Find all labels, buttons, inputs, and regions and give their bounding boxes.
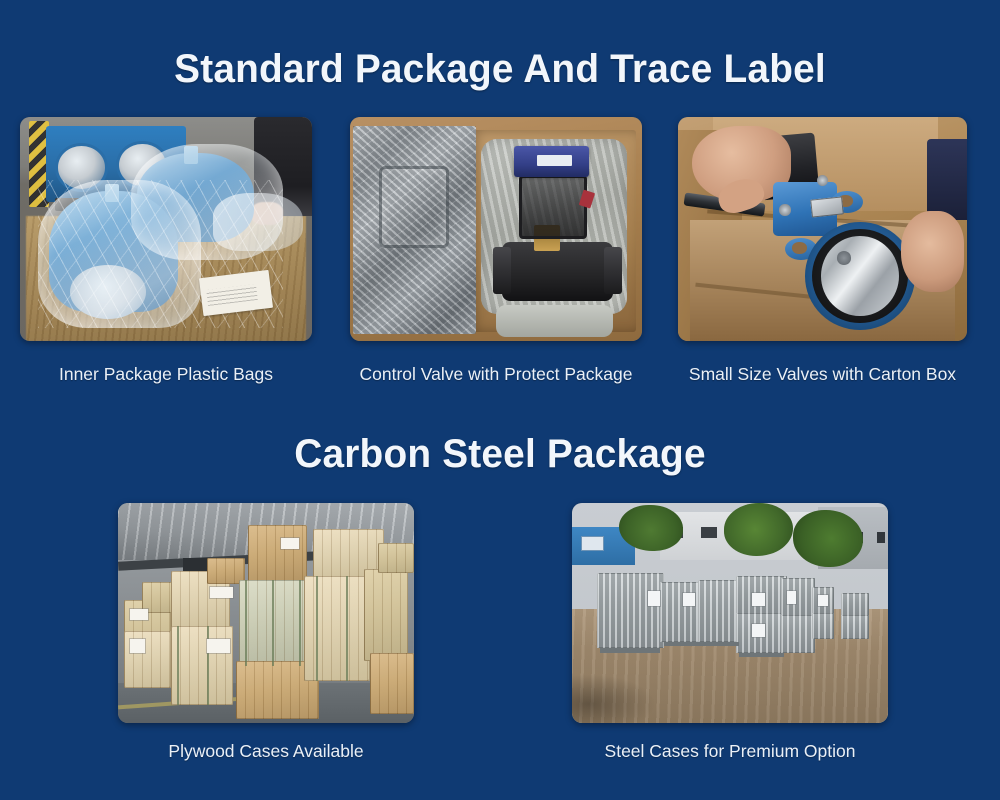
valve-disc-pin	[837, 251, 851, 264]
steel-case-label	[648, 591, 661, 606]
valve-stainless-disc	[821, 236, 899, 317]
steel-case	[781, 578, 816, 620]
crate-shipping-label	[207, 639, 231, 652]
photo-4-scene	[118, 503, 414, 723]
worker-hand-right	[901, 211, 965, 292]
crate-strap	[346, 576, 348, 682]
crate	[171, 626, 233, 705]
photo-3-scene	[678, 117, 967, 341]
crate	[364, 569, 408, 661]
case-pallet-base	[739, 653, 783, 657]
valve-lug-hole-bottom	[792, 242, 806, 253]
crate-shipping-label	[130, 639, 145, 652]
steel-case-label	[752, 593, 765, 606]
steel-case-label	[683, 593, 696, 606]
photo-caption-steel-cases: Steel Cases for Premium Option	[572, 740, 888, 762]
crate-shipping-label	[130, 609, 148, 620]
section-title-carbon-steel-package: Carbon Steel Package	[15, 429, 985, 479]
steel-case	[841, 615, 869, 639]
crate	[378, 543, 414, 574]
case-pallet-base	[702, 642, 740, 646]
photo-2-scene	[350, 117, 642, 341]
tree	[793, 510, 863, 567]
crate-strap	[299, 580, 301, 666]
steel-case	[597, 573, 663, 648]
crate	[248, 525, 307, 582]
site-office-window	[581, 536, 603, 551]
crate-strap	[316, 576, 318, 682]
package-gallery-page: Standard Package And Trace Label	[0, 0, 1000, 800]
steel-case	[698, 580, 739, 642]
photo-caption-inner-package-plastic-bags: Inner Package Plastic Bags	[20, 363, 312, 385]
photo-caption-plywood-cases: Plywood Cases Available	[118, 740, 414, 762]
crate-shipping-label	[281, 538, 299, 549]
photo-plywood-cases[interactable]	[118, 503, 414, 723]
steel-case-label	[818, 595, 827, 606]
foam-cushion-bottom	[496, 305, 613, 336]
photo-1-scene	[20, 117, 312, 341]
page-title: Standard Package And Trace Label	[15, 44, 985, 94]
steel-case-label	[787, 591, 796, 604]
photo-caption-control-valve-protect-package: Control Valve with Protect Package	[350, 363, 642, 385]
steel-case-label	[752, 624, 765, 637]
photo-inner-package-plastic-bags[interactable]	[20, 117, 312, 341]
steel-case	[812, 613, 834, 639]
crate	[370, 653, 414, 715]
case-pallet-base	[600, 648, 660, 652]
photo-small-size-valves-carton-box[interactable]	[678, 117, 967, 341]
case-pallet-base	[664, 642, 702, 646]
tree	[619, 505, 682, 551]
crate	[304, 576, 369, 682]
photo-control-valve-protect-package[interactable]	[350, 117, 642, 341]
worker-body	[927, 139, 967, 220]
ground-shadow	[572, 675, 654, 723]
actuator-nameplate	[537, 155, 572, 166]
valve-yoke	[519, 175, 586, 239]
crate-strap	[207, 626, 209, 705]
photo-5-scene	[572, 503, 888, 723]
crate-strap	[245, 580, 247, 666]
valve-nameplate	[810, 196, 843, 217]
foil-imprint	[379, 166, 449, 248]
valve-flange-left	[493, 247, 511, 294]
valve-flange-right	[604, 247, 622, 294]
crate-strap	[177, 626, 179, 705]
crate-strap	[272, 580, 274, 666]
photo-caption-small-size-valves-carton-box: Small Size Valves with Carton Box	[678, 363, 967, 385]
crate-shipping-label	[210, 587, 234, 598]
photo-steel-cases[interactable]	[572, 503, 888, 723]
steel-case	[841, 593, 869, 617]
steel-case	[781, 615, 816, 652]
valve-bolt-2	[779, 204, 791, 215]
control-valve-body	[502, 242, 613, 300]
